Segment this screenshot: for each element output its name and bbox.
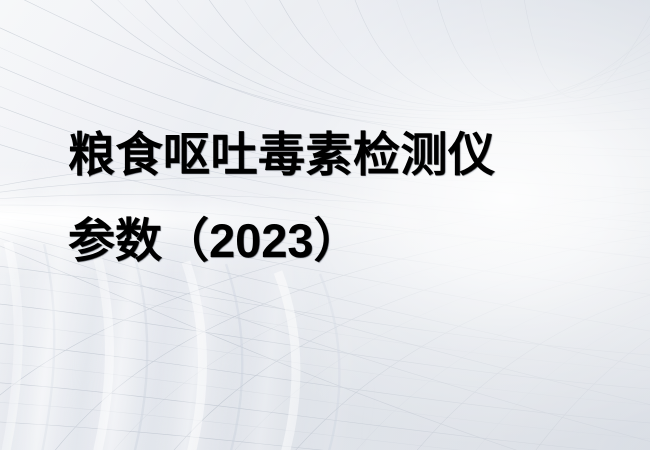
banner-title-block: 粮食呕吐毒素检测仪 参数（2023） xyxy=(68,112,628,284)
banner-title-line-1: 粮食呕吐毒素检测仪 xyxy=(68,112,628,198)
banner-title-line-2: 参数（2023） xyxy=(68,198,628,284)
banner-image: 粮食呕吐毒素检测仪 参数（2023） xyxy=(0,0,650,450)
